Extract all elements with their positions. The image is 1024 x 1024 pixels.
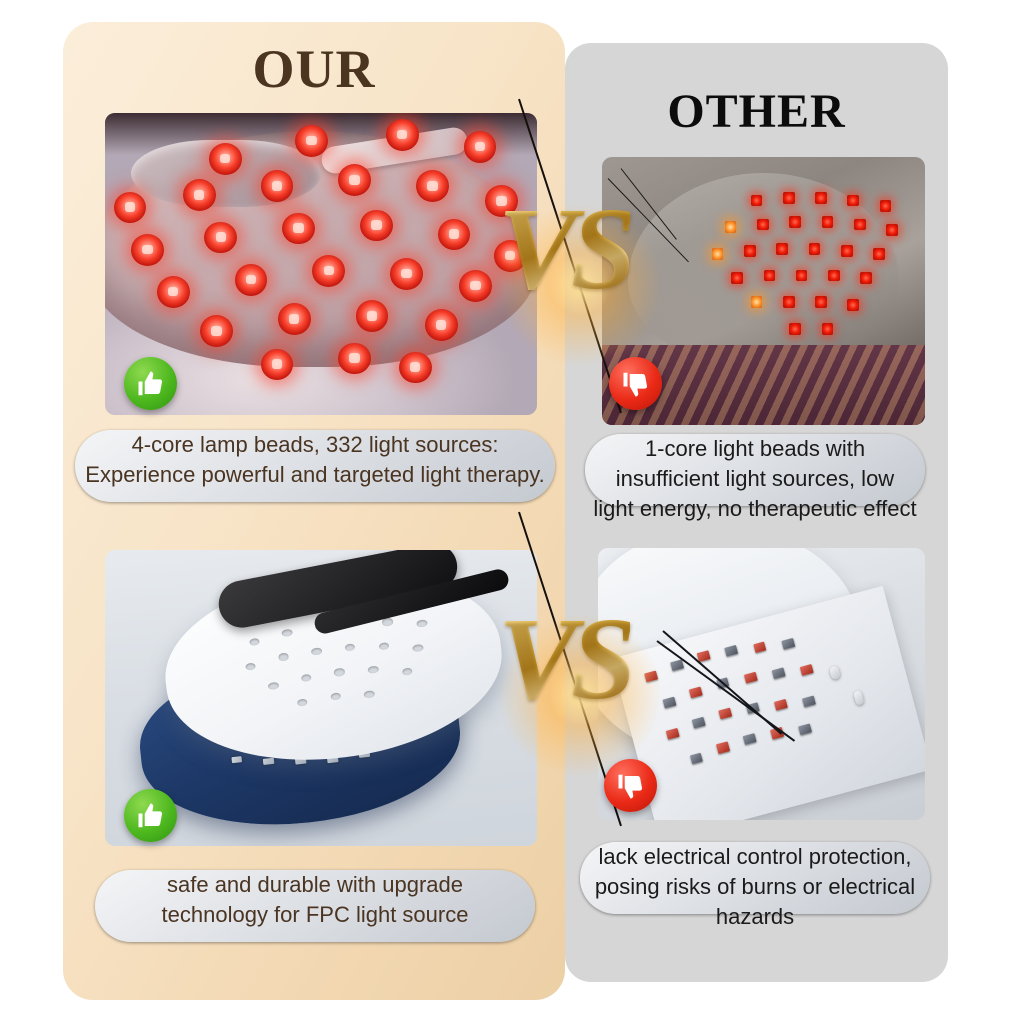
caption-line: posing risks of burns or electrical [580, 872, 930, 902]
caption-line: safe and durable with upgrade [95, 870, 535, 900]
caption-line: 1-core light beads with [585, 434, 925, 464]
thumbs-down-icon [609, 357, 662, 410]
thumbs-up-icon [124, 789, 177, 842]
other-top-caption: 1-core light beads with insufficient lig… [585, 434, 925, 506]
caption-line: 4-core lamp beads, 332 light sources: [75, 430, 555, 460]
comparison-infographic: OUR OTHER [0, 0, 1024, 1024]
caption-line: lack electrical control protection, [580, 842, 930, 872]
caption-line: light energy, no therapeutic effect [585, 494, 925, 524]
caption-line: insufficient light sources, low [585, 464, 925, 494]
thumbs-down-icon [604, 759, 657, 812]
caption-line: Experience powerful and targeted light t… [75, 460, 555, 490]
thumbs-up-icon [124, 357, 177, 410]
other-bottom-caption: lack electrical control protection, posi… [580, 842, 930, 914]
vs-badge-bottom: VS [498, 600, 630, 718]
caption-line: technology for FPC light source [95, 900, 535, 930]
caption-line: hazards [580, 902, 930, 932]
our-top-caption: 4-core lamp beads, 332 light sources: Ex… [75, 430, 555, 502]
our-title: OUR [63, 38, 565, 100]
vs-badge-top: VS [498, 190, 630, 308]
other-title: OTHER [565, 84, 948, 139]
our-bottom-caption: safe and durable with upgrade technology… [95, 870, 535, 942]
